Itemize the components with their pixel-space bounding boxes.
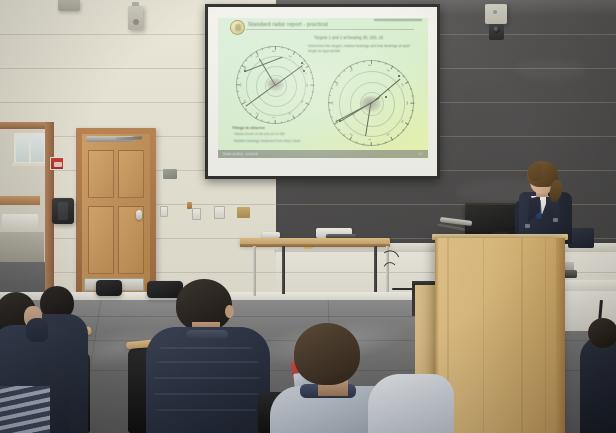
wall-plaque bbox=[163, 169, 177, 179]
side-room-cabinet bbox=[0, 232, 44, 262]
footer-text: Radar plotting - practical bbox=[223, 152, 258, 156]
window-sill bbox=[12, 163, 48, 166]
audience-collar bbox=[186, 330, 228, 339]
institution-crest-logo bbox=[230, 20, 245, 35]
wall-outlet[interactable] bbox=[192, 208, 201, 220]
radar-tick bbox=[275, 120, 276, 124]
presenter-badge bbox=[525, 224, 530, 228]
radar-angle-label: 090 bbox=[305, 83, 307, 86]
radar-angle-label: 270 bbox=[332, 101, 334, 104]
table-leg bbox=[253, 246, 256, 296]
radar-tick bbox=[236, 85, 240, 86]
audience-head bbox=[588, 318, 616, 348]
radar-tick bbox=[310, 85, 314, 86]
slide-footer: Radar plotting - practical 12 bbox=[218, 150, 428, 158]
table-leg bbox=[282, 246, 285, 294]
table-edge bbox=[240, 244, 390, 247]
radar-plot-1: A B 000030060090120150180210240270300330 bbox=[236, 46, 314, 124]
slide-title: Standard radar report - practical bbox=[248, 22, 328, 28]
radar-angle-label: 000 bbox=[368, 65, 371, 67]
radar-tick bbox=[371, 142, 372, 146]
door-handle[interactable] bbox=[136, 210, 142, 220]
wall-equipment-box bbox=[52, 198, 74, 224]
slide-top-rule bbox=[374, 19, 422, 21]
wall-panel-plate bbox=[237, 207, 250, 218]
side-room-sink bbox=[2, 214, 38, 230]
slide-body-text: Determine the ranges, relative bearings … bbox=[308, 44, 416, 54]
audience-arm bbox=[26, 318, 48, 342]
lectern-podium[interactable] bbox=[435, 238, 565, 433]
audience-body bbox=[580, 336, 616, 433]
camera-mount bbox=[485, 4, 507, 24]
wall-outlet[interactable] bbox=[160, 206, 168, 217]
audience-body bbox=[146, 327, 270, 433]
bullet-item-1: Values shown in the plot are in NM bbox=[234, 132, 285, 136]
audience-head bbox=[294, 323, 360, 385]
side-room-counter bbox=[0, 196, 40, 205]
radar-tick bbox=[410, 103, 414, 104]
lecture-hall-scene: Standard radar report - practical Target… bbox=[0, 0, 616, 433]
radar-angle-label: 180 bbox=[368, 138, 371, 140]
audience-shoulder bbox=[368, 374, 454, 433]
radar-angle-label: 090 bbox=[405, 101, 407, 104]
slide-title-underline bbox=[246, 29, 414, 30]
ceiling-fixture bbox=[58, 0, 80, 11]
side-room-window bbox=[14, 133, 46, 164]
bullet-heading: Things to observe bbox=[232, 126, 265, 130]
radar-angle-label: 180 bbox=[272, 116, 275, 118]
radar-angle-label: 270 bbox=[240, 83, 242, 86]
radar-plot-2: A B 000030060090120150180210240270300330 bbox=[328, 60, 414, 146]
wall-outlet[interactable] bbox=[214, 206, 225, 219]
audience-striped-garment bbox=[0, 386, 50, 433]
radar-tick bbox=[328, 103, 332, 104]
radar-tick bbox=[275, 46, 276, 50]
presenter-badge bbox=[553, 218, 558, 222]
podium-right-edge bbox=[556, 238, 565, 433]
bullet-item-2: Relative bearings measured from ship's h… bbox=[234, 139, 300, 143]
slide-number: 12 bbox=[418, 152, 422, 156]
radar-angle-label: 000 bbox=[272, 51, 275, 53]
fire-alarm-sign bbox=[50, 157, 64, 170]
audience-ear bbox=[225, 305, 234, 318]
projected-slide: Standard radar report - practical Target… bbox=[218, 18, 428, 158]
presenter-hair-front bbox=[528, 163, 542, 181]
slide-subtitle: Targets 1 and 2 at bearing 30, 150, 15 bbox=[314, 35, 383, 40]
wall-speaker bbox=[128, 6, 143, 30]
radar-tick bbox=[371, 60, 372, 64]
camera-lens-icon bbox=[493, 26, 500, 33]
floor-bag bbox=[96, 280, 122, 296]
